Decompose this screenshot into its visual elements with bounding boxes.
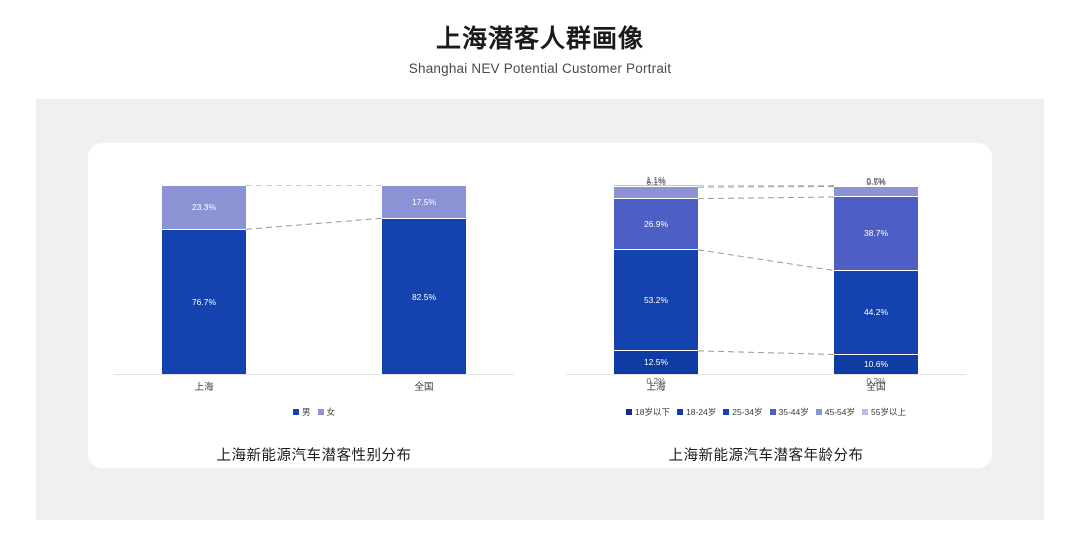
page-subtitle: Shanghai NEV Potential Customer Portrait xyxy=(0,61,1080,76)
segment-value-label: 76.7% xyxy=(192,298,216,307)
segment-value-label: 44.2% xyxy=(864,308,888,317)
page-title: 上海潜客人群画像 xyxy=(0,24,1080,54)
segment-value-label: 26.9% xyxy=(644,220,668,229)
legend-item-55岁以上[interactable]: 55岁以上 xyxy=(862,406,906,418)
legend-gender: 男女 xyxy=(293,406,335,418)
legend-label: 45-54岁 xyxy=(825,406,855,418)
bar-segment-35-44岁: 38.7% xyxy=(834,196,918,270)
legend-swatch-icon xyxy=(677,409,683,415)
chart-gender: 76.7%23.3% 82.5%17.5% 上海 全国 男女 上海新能源汽车潜客… xyxy=(88,143,540,468)
segment-value-label: 53.2% xyxy=(644,296,668,305)
legend-swatch-icon xyxy=(293,409,299,415)
connector-line-35-44岁 xyxy=(698,197,834,199)
legend-label: 35-44岁 xyxy=(779,406,809,418)
legend-swatch-icon xyxy=(723,409,729,415)
bar-segment-男: 76.7% xyxy=(162,229,246,375)
bar-segment-18-24岁: 10.6% xyxy=(834,354,918,374)
bar-segment-女: 17.5% xyxy=(382,185,466,218)
segment-value-label: 23.3% xyxy=(192,203,216,212)
bar-age-shanghai: 0.2%12.5%53.2%26.9%6.1%1.1% xyxy=(614,184,698,375)
segment-value-label: 1.1% xyxy=(646,176,665,185)
bar-gender-national: 82.5%17.5% xyxy=(382,185,466,375)
page-header: 上海潜客人群画像 Shanghai NEV Potential Customer… xyxy=(0,0,1080,76)
legend-label: 男 xyxy=(302,406,311,418)
bar-segment-45-54岁: 6.1% xyxy=(614,186,698,198)
legend-label: 25-34岁 xyxy=(732,406,762,418)
legend-label: 18岁以下 xyxy=(635,406,670,418)
connector-line-45-54岁 xyxy=(698,187,834,188)
bar-segment-45-54岁: 5.5% xyxy=(834,186,918,196)
charts-container: 76.7%23.3% 82.5%17.5% 上海 全国 男女 上海新能源汽车潜客… xyxy=(88,143,992,468)
segment-value-label: 17.5% xyxy=(412,198,436,207)
bar-segment-18-24岁: 12.5% xyxy=(614,350,698,374)
legend-item-35-44岁[interactable]: 35-44岁 xyxy=(770,406,809,418)
legend-swatch-icon xyxy=(626,409,632,415)
bar-segment-25-34岁: 53.2% xyxy=(614,249,698,350)
legend-item-女[interactable]: 女 xyxy=(318,406,336,418)
axis-line xyxy=(566,374,966,375)
category-label-shanghai: 上海 xyxy=(162,379,246,393)
segment-value-label: 12.5% xyxy=(644,358,668,367)
segment-value-label: 38.7% xyxy=(864,229,888,238)
legend-item-25-34岁[interactable]: 25-34岁 xyxy=(723,406,762,418)
segment-value-label: 82.5% xyxy=(412,293,436,302)
category-labels-age: 上海 全国 xyxy=(586,379,946,397)
slide-page: 上海潜客人群画像 Shanghai NEV Potential Customer… xyxy=(0,0,1080,547)
legend-swatch-icon xyxy=(770,409,776,415)
segment-value-label: 0.2% xyxy=(646,377,665,386)
bar-age-national: 0.2%10.6%44.2%38.7%5.5%0.7% xyxy=(834,185,918,375)
legend-item-18-24岁[interactable]: 18-24岁 xyxy=(677,406,716,418)
bar-segment-男: 82.5% xyxy=(382,218,466,375)
caption-age: 上海新能源汽车潜客年龄分布 xyxy=(669,444,864,465)
segment-value-label: 0.2% xyxy=(866,377,885,386)
legend-swatch-icon xyxy=(862,409,868,415)
legend-swatch-icon xyxy=(318,409,324,415)
connector-line-男 xyxy=(246,218,382,229)
chart-age: 0.2%12.5%53.2%26.9%6.1%1.1% 0.2%10.6%44.… xyxy=(540,143,992,468)
legend-label: 女 xyxy=(327,406,336,418)
plot-area-gender: 76.7%23.3% 82.5%17.5% xyxy=(134,185,494,375)
axis-line xyxy=(114,374,514,375)
legend-age: 18岁以下18-24岁25-34岁35-44岁45-54岁55岁以上 xyxy=(626,406,906,418)
segment-value-label: 0.7% xyxy=(866,177,885,186)
legend-item-男[interactable]: 男 xyxy=(293,406,311,418)
legend-item-18岁以下[interactable]: 18岁以下 xyxy=(626,406,670,418)
plot-area-age: 0.2%12.5%53.2%26.9%6.1%1.1% 0.2%10.6%44.… xyxy=(586,185,946,375)
connector-line-25-34岁 xyxy=(698,250,834,271)
legend-swatch-icon xyxy=(816,409,822,415)
category-labels-gender: 上海 全国 xyxy=(134,379,494,397)
charts-card: 76.7%23.3% 82.5%17.5% 上海 全国 男女 上海新能源汽车潜客… xyxy=(88,143,992,468)
legend-label: 18-24岁 xyxy=(686,406,716,418)
legend-label: 55岁以上 xyxy=(871,406,906,418)
caption-gender: 上海新能源汽车潜客性别分布 xyxy=(217,444,412,465)
connector-line-18-24岁 xyxy=(698,351,834,355)
bar-gender-shanghai: 76.7%23.3% xyxy=(162,185,246,375)
category-label-national: 全国 xyxy=(382,379,466,393)
bar-segment-25-34岁: 44.2% xyxy=(834,270,918,354)
segment-value-label: 10.6% xyxy=(864,360,888,369)
bar-segment-35-44岁: 26.9% xyxy=(614,198,698,249)
bar-segment-女: 23.3% xyxy=(162,185,246,229)
legend-item-45-54岁[interactable]: 45-54岁 xyxy=(816,406,855,418)
